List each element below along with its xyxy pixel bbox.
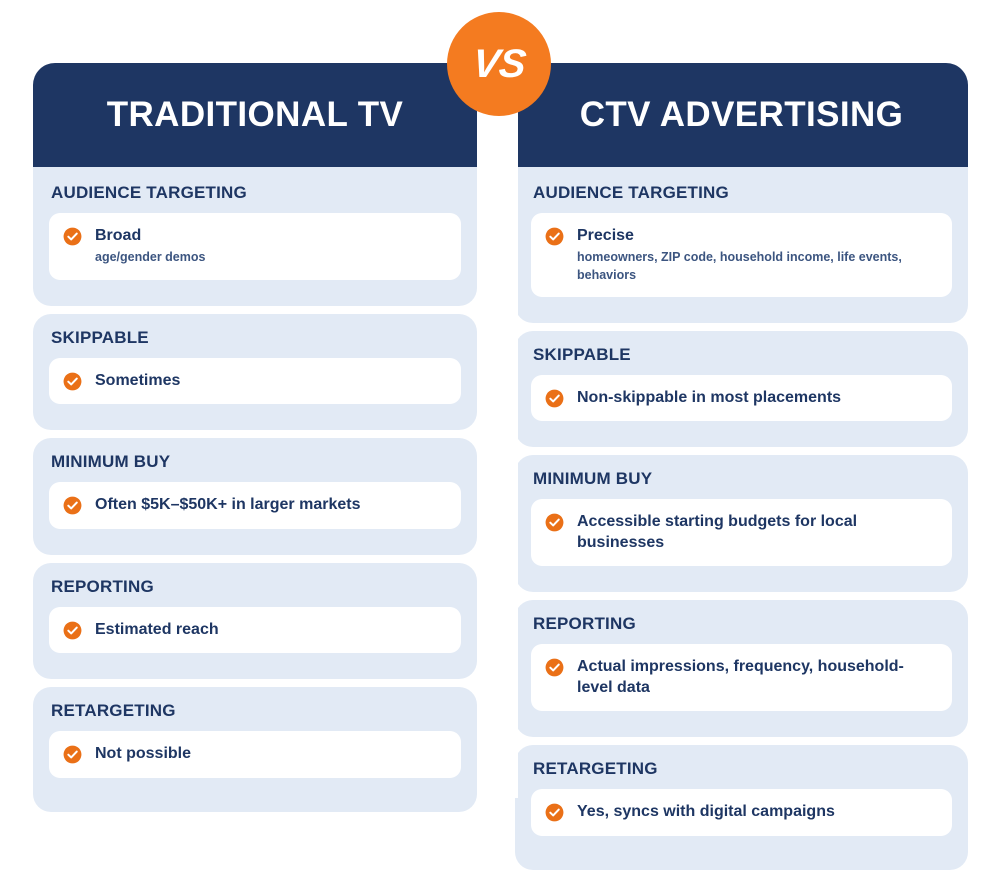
check-circle-icon <box>545 803 564 822</box>
section-label: SKIPPABLE <box>533 345 952 365</box>
value-card: Often $5K–$50K+ in larger markets <box>49 482 461 528</box>
value-text: Actual impressions, frequency, household… <box>577 657 936 698</box>
check-circle-icon <box>545 389 564 408</box>
value-card: Precise homeowners, ZIP code, household … <box>531 213 952 297</box>
section-label: REPORTING <box>51 577 461 597</box>
value-card: Estimated reach <box>49 607 461 653</box>
panel-title-right: CTV ADVERTISING <box>580 95 904 135</box>
check-circle-icon <box>63 621 82 640</box>
value-main: Non-skippable in most placements <box>577 388 841 408</box>
value-text: Estimated reach <box>95 620 219 640</box>
value-card: Accessible starting budgets for local bu… <box>531 499 952 566</box>
value-main: Estimated reach <box>95 620 219 640</box>
value-main: Not possible <box>95 744 191 764</box>
check-circle-icon <box>63 372 82 391</box>
panel-ctv-advertising: CTV ADVERTISING AUDIENCE TARGETING Preci… <box>515 63 968 870</box>
value-detail: age/gender demos <box>95 249 205 266</box>
panel-body-right: AUDIENCE TARGETING Precise homeowners, Z… <box>515 167 968 870</box>
check-circle-icon <box>63 227 82 246</box>
value-main: Precise <box>577 226 907 246</box>
section-card: AUDIENCE TARGETING Broad age/gender demo… <box>33 167 477 306</box>
section-label: REPORTING <box>533 614 952 634</box>
value-main: Accessible starting budgets for local bu… <box>577 512 936 553</box>
value-card: Broad age/gender demos <box>49 213 461 280</box>
section-label: RETARGETING <box>533 759 952 779</box>
section-label: MINIMUM BUY <box>533 469 952 489</box>
value-text: Sometimes <box>95 371 180 391</box>
section-card: AUDIENCE TARGETING Precise homeowners, Z… <box>515 167 968 323</box>
value-text: Broad age/gender demos <box>95 226 205 267</box>
panel-traditional-tv: TRADITIONAL TV AUDIENCE TARGETING Broad … <box>33 63 477 870</box>
value-text: Precise homeowners, ZIP code, household … <box>577 226 907 284</box>
value-text: Often $5K–$50K+ in larger markets <box>95 495 360 515</box>
value-card: Not possible <box>49 731 461 777</box>
check-circle-icon <box>545 227 564 246</box>
check-circle-icon <box>63 496 82 515</box>
value-card: Non-skippable in most placements <box>531 375 952 421</box>
section-label: AUDIENCE TARGETING <box>533 183 952 203</box>
value-text: Yes, syncs with digital campaigns <box>577 802 835 822</box>
check-circle-icon <box>63 745 82 764</box>
section-card: SKIPPABLE Non-skippable in most placemen… <box>515 331 968 447</box>
value-main: Actual impressions, frequency, household… <box>577 657 936 698</box>
panel-body-left: AUDIENCE TARGETING Broad age/gender demo… <box>33 167 477 812</box>
value-card: Sometimes <box>49 358 461 404</box>
vs-label: VS <box>470 42 527 87</box>
panel-title-left: TRADITIONAL TV <box>107 95 404 135</box>
section-card: RETARGETING Yes, syncs with digital camp… <box>515 745 968 869</box>
section-card: REPORTING Actual impressions, frequency,… <box>515 600 968 737</box>
value-main: Broad <box>95 226 205 246</box>
section-card: RETARGETING Not possible <box>33 687 477 811</box>
value-card: Actual impressions, frequency, household… <box>531 644 952 711</box>
section-card: REPORTING Estimated reach <box>33 563 477 679</box>
section-label: MINIMUM BUY <box>51 452 461 472</box>
panel-header-left: TRADITIONAL TV <box>33 63 477 167</box>
section-card: SKIPPABLE Sometimes <box>33 314 477 430</box>
value-text: Accessible starting budgets for local bu… <box>577 512 936 553</box>
value-text: Not possible <box>95 744 191 764</box>
panel-header-right: CTV ADVERTISING <box>515 63 968 167</box>
section-label: AUDIENCE TARGETING <box>51 183 461 203</box>
section-label: SKIPPABLE <box>51 328 461 348</box>
vs-badge: VS <box>447 12 551 116</box>
panel-divider <box>478 0 518 798</box>
check-circle-icon <box>545 513 564 532</box>
check-circle-icon <box>545 658 564 677</box>
value-main: Often $5K–$50K+ in larger markets <box>95 495 360 515</box>
value-detail: homeowners, ZIP code, household income, … <box>577 249 907 284</box>
value-main: Sometimes <box>95 371 180 391</box>
value-text: Non-skippable in most placements <box>577 388 841 408</box>
value-main: Yes, syncs with digital campaigns <box>577 802 835 822</box>
section-label: RETARGETING <box>51 701 461 721</box>
section-card: MINIMUM BUY Accessible starting budgets … <box>515 455 968 592</box>
section-card: MINIMUM BUY Often $5K–$50K+ in larger ma… <box>33 438 477 554</box>
value-card: Yes, syncs with digital campaigns <box>531 789 952 835</box>
comparison-infographic: TRADITIONAL TV AUDIENCE TARGETING Broad … <box>0 0 1000 798</box>
